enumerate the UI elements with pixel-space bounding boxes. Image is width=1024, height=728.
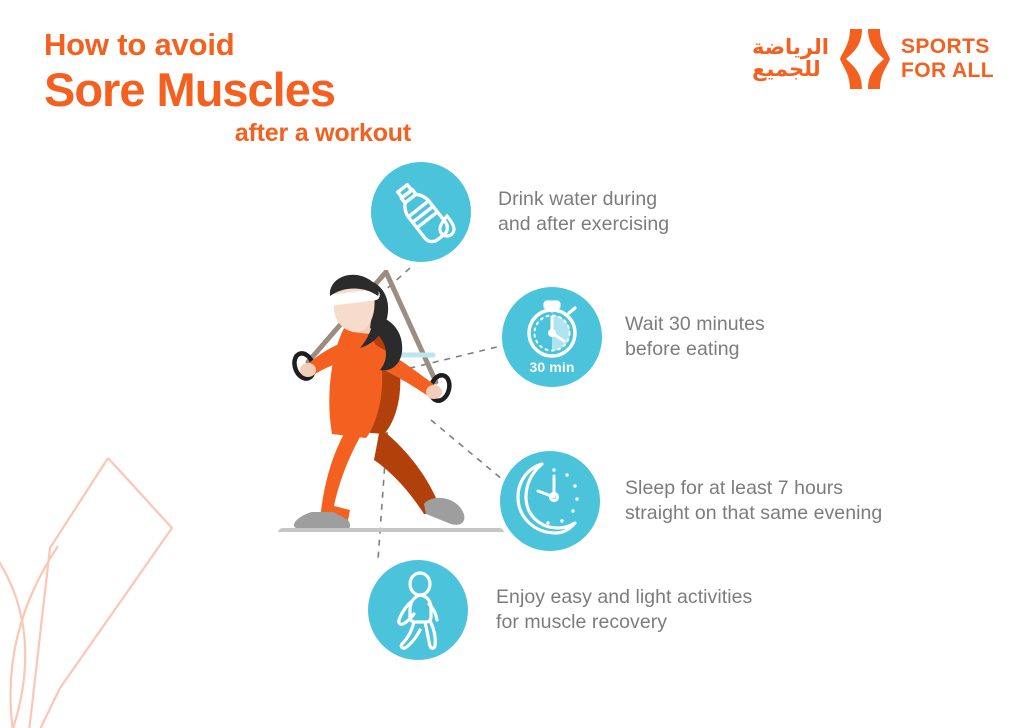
- hand-back: [426, 385, 442, 399]
- logo-arabic-text: الرياضة للجميع: [752, 37, 829, 81]
- infographic-poster: How to avoid Sore Muscles after a workou…: [0, 0, 1024, 728]
- hand-front: [300, 363, 316, 377]
- tip-item-sleep-7-hours[interactable]: Sleep for at least 7 hours straight on t…: [500, 451, 882, 551]
- hourglass-x-mark-icon: [838, 28, 892, 90]
- water-bottle-icon: [371, 162, 471, 262]
- shoe-back: [424, 498, 464, 525]
- torso: [329, 327, 382, 438]
- tip-4-label: Enjoy easy and light activities for musc…: [496, 585, 752, 635]
- logo-english-line-1: SPORTS: [901, 35, 994, 59]
- logo-english-text: SPORTS FOR ALL: [901, 35, 994, 82]
- watermark-logo-outline: [0, 428, 260, 728]
- logo-arabic-line-1: الرياضة: [752, 37, 829, 59]
- brand-logo: الرياضة للجميع SPORTS FOR ALL: [752, 28, 994, 90]
- tip-2-bubble: 30 min: [502, 287, 602, 387]
- moon-clock-icon: [500, 451, 600, 551]
- tip-2-badge: 30 min: [502, 359, 602, 375]
- tip-item-light-activities[interactable]: Enjoy easy and light activities for musc…: [368, 560, 752, 660]
- walking-person-icon: [368, 560, 468, 660]
- ground-line: [278, 528, 504, 532]
- title-line-1: How to avoid: [44, 26, 464, 64]
- tip-3-label: Sleep for at least 7 hours straight on t…: [625, 476, 882, 526]
- athlete-illustration: [268, 270, 520, 532]
- tip-3-bubble: [500, 451, 600, 551]
- title-line-3: after a workout: [44, 116, 411, 150]
- tip-2-label: Wait 30 minutes before eating: [625, 312, 765, 362]
- logo-arabic-line-2: للجميع: [752, 59, 821, 81]
- logo-english-line-2: FOR ALL: [901, 59, 994, 83]
- title-line-2: Sore Muscles: [44, 64, 464, 116]
- tip-item-drink-water[interactable]: Drink water during and after exercising: [371, 162, 669, 262]
- tip-4-bubble: [368, 560, 468, 660]
- page-title: How to avoid Sore Muscles after a workou…: [44, 26, 464, 150]
- tip-1-bubble: [371, 162, 471, 262]
- tip-item-wait-30-minutes[interactable]: 30 min Wait 30 minutes before eating: [502, 287, 765, 387]
- tip-1-label: Drink water during and after exercising: [498, 187, 669, 237]
